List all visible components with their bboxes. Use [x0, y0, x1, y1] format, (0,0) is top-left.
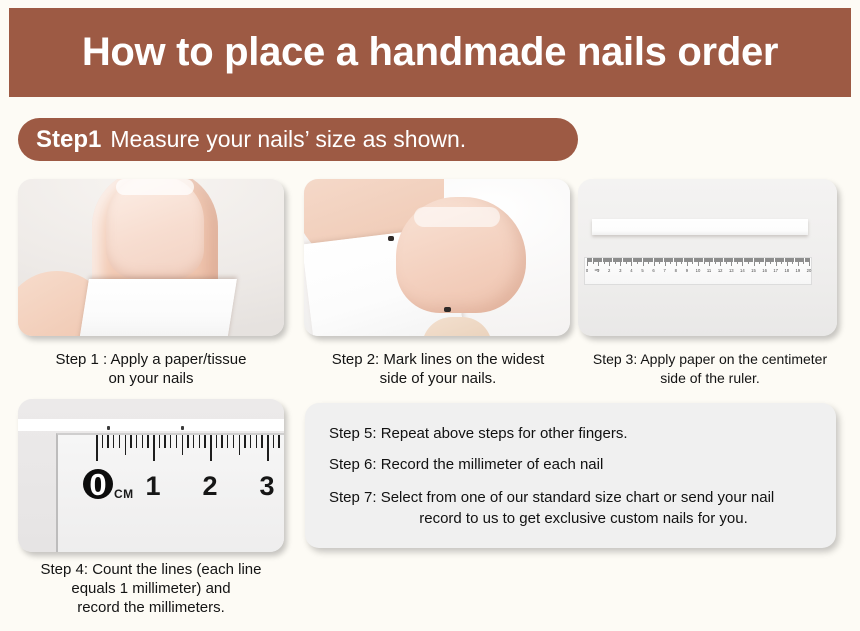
small-ruler-number: 12: [718, 268, 723, 273]
reference-dot-left-icon: [107, 426, 110, 430]
small-ruler-number: 6: [652, 268, 654, 273]
paper-strip-on-ruler: [592, 219, 808, 235]
caption-step-1: Step 1 : Apply a paper/tissue on your na…: [6, 350, 296, 388]
ruler-with-strip-photo: 01234567891011121314151617181920cm: [578, 179, 837, 336]
ruler-top-white-bar: [18, 419, 284, 431]
step-6-line: Step 6: Record the millimeter of each na…: [329, 456, 812, 473]
macro-ruler-zero-label: 0: [83, 469, 113, 499]
small-ruler-ticks: [585, 258, 811, 267]
caption-line: Step 3: Apply paper on the centimeter: [572, 350, 848, 369]
caption-line: side of the ruler.: [572, 369, 848, 388]
caption-step-4: Step 4: Count the lines (each line equal…: [8, 560, 294, 617]
small-ruler-numbers: 01234567891011121314151617181920cm: [585, 268, 811, 280]
small-ruler-number: 4: [630, 268, 632, 273]
steps-5-7-box: Step 5: Repeat above steps for other fin…: [305, 403, 836, 548]
macro-ruler-number: 2: [202, 471, 217, 502]
caption-line: side of your nails.: [296, 369, 580, 388]
finger-paper-photo: [18, 179, 284, 336]
caption-line: equals 1 millimeter) and: [8, 579, 294, 598]
small-ruler-number: 17: [773, 268, 778, 273]
step-7-line-2: record to us to get exclusive custom nai…: [329, 508, 812, 529]
caption-step-2: Step 2: Mark lines on the widest side of…: [296, 350, 580, 388]
small-ruler-number: 13: [729, 268, 734, 273]
small-ruler-number: 15: [751, 268, 756, 273]
macro-ruler-photo: 0CM123: [18, 399, 284, 552]
small-ruler-number: 9: [686, 268, 688, 273]
macro-ruler-unit-label: CM: [114, 487, 134, 501]
small-ruler: 01234567891011121314151617181920cm: [584, 257, 812, 285]
macro-ruler-number: 1: [145, 471, 160, 502]
small-ruler-number: 11: [707, 268, 711, 273]
photo-card-step-4: 0CM123: [18, 399, 284, 552]
caption-step-3: Step 3: Apply paper on the centimeter si…: [572, 350, 848, 388]
caption-line: Step 4: Count the lines (each line: [8, 560, 294, 579]
macro-ruler-ticks: [58, 435, 284, 461]
small-ruler-number: 19: [796, 268, 801, 273]
small-ruler-number: 3: [619, 268, 621, 273]
photo-card-step-1: [18, 179, 284, 336]
caption-line: Step 2: Mark lines on the widest: [296, 350, 580, 369]
step1-badge-label: Step1: [36, 126, 101, 154]
small-ruler-number: 14: [740, 268, 745, 273]
macro-ruler-number: 3: [259, 471, 274, 502]
step1-badge: Step1 Measure your nails’ size as shown.: [18, 118, 578, 161]
small-ruler-number: 10: [696, 268, 701, 273]
pencil-mark-left-icon: [388, 236, 394, 241]
step-7-line-1: Step 7: Select from one of our standard …: [329, 489, 774, 506]
reference-dot-right-icon: [181, 426, 184, 430]
main-finger-shape: [396, 197, 526, 313]
step-7-line: Step 7: Select from one of our standard …: [329, 487, 812, 529]
small-ruler-number: 0: [586, 268, 588, 273]
marked-paper-photo: [304, 179, 570, 336]
step-5-line: Step 5: Repeat above steps for other fin…: [329, 425, 812, 442]
header-banner: How to place a handmade nails order: [9, 8, 851, 97]
paper-strip-shape: [79, 279, 237, 336]
small-ruler-number: 2: [608, 268, 610, 273]
small-ruler-number: 5: [641, 268, 643, 273]
small-ruler-number: 20: [807, 268, 812, 273]
small-ruler-number: 8: [675, 268, 677, 273]
fingernail-shape: [106, 179, 204, 279]
small-ruler-number: 7: [664, 268, 666, 273]
photo-card-step-3: 01234567891011121314151617181920cm: [578, 179, 837, 336]
caption-line: record the millimeters.: [8, 598, 294, 617]
caption-line: on your nails: [6, 369, 296, 388]
caption-line: Step 1 : Apply a paper/tissue: [6, 350, 296, 369]
small-ruler-number: 16: [762, 268, 767, 273]
step1-badge-description: Measure your nails’ size as shown.: [110, 126, 466, 153]
photo-card-step-2: [304, 179, 570, 336]
pencil-mark-right-icon: [444, 307, 451, 312]
small-ruler-unit-label: cm: [595, 268, 600, 272]
page-title: How to place a handmade nails order: [82, 30, 778, 75]
poster-root: How to place a handmade nails order Step…: [0, 0, 860, 631]
small-ruler-number: 18: [784, 268, 789, 273]
